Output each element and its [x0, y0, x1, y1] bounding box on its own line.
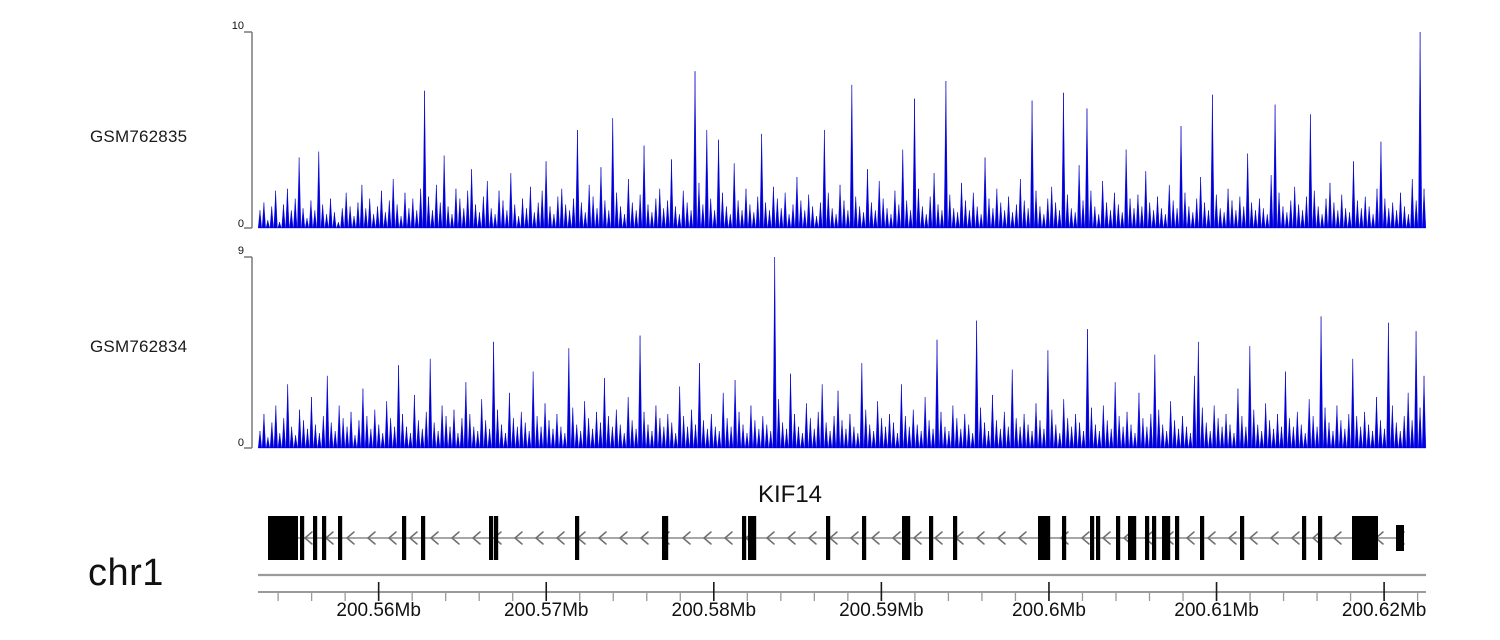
gene-exon-33[interactable] — [1166, 516, 1170, 560]
gene-exon-21[interactable] — [1038, 516, 1042, 560]
gene-exon-12[interactable] — [742, 516, 746, 560]
gene-exon-30[interactable] — [1145, 516, 1149, 560]
ruler-tick-label: 200.59Mb — [839, 600, 924, 622]
gene-exon-35[interactable] — [1200, 516, 1204, 560]
genome-browser-view: GSM762835 10 0 GSM762834 9 0 chr1 KIF14 … — [0, 0, 1500, 640]
gene-exon-24[interactable] — [1062, 516, 1066, 560]
gene-exon-15[interactable] — [826, 516, 830, 560]
gene-exon-6[interactable] — [421, 516, 425, 560]
gene-exon-31[interactable] — [1152, 516, 1156, 560]
gene-utr-block-2[interactable] — [1396, 525, 1404, 551]
gene-exon-4[interactable] — [338, 516, 342, 560]
gene-exon-36[interactable] — [1240, 516, 1244, 560]
ruler-tick-label: 200.61Mb — [1174, 600, 1259, 622]
gene-exon-19[interactable] — [929, 516, 933, 560]
gene-exon-1[interactable] — [300, 516, 304, 560]
gene-exon-5[interactable] — [402, 516, 406, 560]
ruler-tick-label: 200.56Mb — [336, 600, 421, 622]
gene-exon-32[interactable] — [1162, 516, 1166, 560]
gene-utr-block-1[interactable] — [1352, 516, 1378, 560]
track1-coverage-area[interactable] — [258, 32, 1426, 228]
gene-utr-block-0[interactable] — [268, 516, 298, 560]
gene-exon-22[interactable] — [1042, 516, 1046, 560]
gene-exon-8[interactable] — [494, 516, 498, 560]
gene-exon-38[interactable] — [1318, 516, 1322, 560]
gene-exon-11[interactable] — [664, 516, 668, 560]
gene-exon-20[interactable] — [953, 516, 957, 560]
ruler-tick-label: 200.6Mb — [1012, 600, 1086, 622]
gene-exon-17[interactable] — [902, 516, 906, 560]
gene-exon-9[interactable] — [575, 516, 579, 560]
gene-exon-27[interactable] — [1116, 516, 1120, 560]
ruler-tick-label: 200.58Mb — [672, 600, 757, 622]
ruler-tick-label: 200.62Mb — [1342, 600, 1427, 622]
track2-coverage-area[interactable] — [258, 257, 1426, 448]
gene-exon-2[interactable] — [313, 516, 317, 560]
gene-exon-23[interactable] — [1046, 516, 1050, 560]
gene-exon-29[interactable] — [1132, 516, 1136, 560]
gene-exon-14[interactable] — [752, 516, 756, 560]
gene-exon-16[interactable] — [862, 516, 866, 560]
gene-exon-28[interactable] — [1128, 516, 1132, 560]
gene-exon-3[interactable] — [322, 516, 326, 560]
track1-coverage-area-spikes — [260, 32, 1424, 228]
gene-exon-25[interactable] — [1090, 516, 1094, 560]
gene-exon-34[interactable] — [1175, 516, 1179, 560]
gene-exon-7[interactable] — [489, 516, 493, 560]
gene-exon-37[interactable] — [1302, 516, 1306, 560]
ruler-tick-label: 200.57Mb — [504, 600, 589, 622]
genome-tracks-canvas[interactable] — [0, 0, 1500, 640]
gene-exon-13[interactable] — [748, 516, 752, 560]
gene-exon-26[interactable] — [1096, 516, 1100, 560]
gene-exon-18[interactable] — [906, 516, 910, 560]
